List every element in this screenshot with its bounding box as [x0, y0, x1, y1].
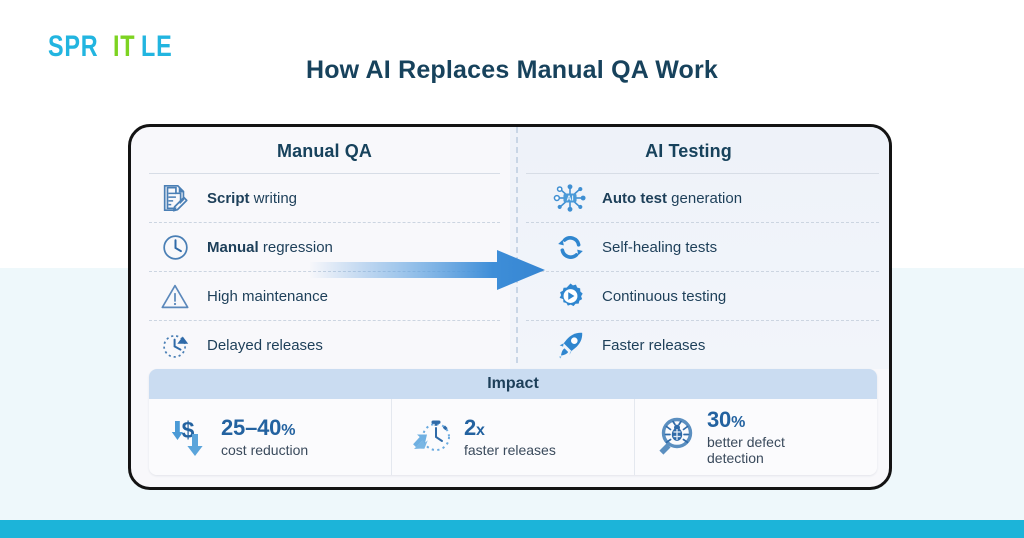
impact-metric-number: 25–40: [221, 415, 281, 440]
impact-metric-number: 30: [707, 407, 731, 432]
impact-panel: Impact $ 25–40% cost reduction: [149, 369, 877, 475]
comparison-columns: Manual QA Script writing: [131, 127, 889, 369]
impact-metric-defect-detection: 30% better defect detection: [635, 399, 877, 475]
list-item-label-rest: writing: [250, 190, 298, 207]
impact-metric-text: 2x faster releases: [464, 415, 556, 458]
list-item: Faster releases: [526, 321, 879, 369]
list-item-label-rest: Faster releases: [602, 337, 705, 354]
column-divider: [516, 127, 518, 363]
clock-icon: [155, 230, 195, 264]
page-title: How AI Replaces Manual QA Work: [0, 56, 1024, 85]
list-item-label-rest: Delayed releases: [207, 337, 323, 354]
impact-metric-unit: %: [731, 414, 745, 431]
list-item-label: Auto test generation: [602, 190, 742, 207]
impact-metric-caption: cost reduction: [221, 442, 308, 459]
impact-metric-text: 25–40% cost reduction: [221, 415, 308, 458]
list-item-label: Self-healing tests: [602, 239, 717, 256]
list-item: Continuous testing: [526, 272, 879, 321]
impact-metric-value: 30%: [707, 407, 745, 432]
self-healing-refresh-icon: [550, 230, 590, 264]
list-item-label-rest: generation: [667, 190, 742, 207]
stopwatch-arrow-icon: [406, 411, 458, 463]
impact-metric-number: 2: [464, 415, 476, 440]
right-arrow-icon: [309, 249, 545, 291]
list-item: AI Auto test generation: [526, 174, 879, 223]
ai-testing-column: AI Testing: [510, 127, 889, 369]
impact-heading: Impact: [149, 369, 877, 399]
list-item: Self-healing tests: [526, 223, 879, 272]
manual-qa-column: Manual QA Script writing: [131, 127, 510, 369]
gear-play-icon: [550, 279, 590, 313]
list-item-label: Delayed releases: [207, 337, 323, 354]
document-pencil-icon: [155, 181, 195, 215]
list-item-label-rest: Self-healing tests: [602, 239, 717, 256]
list-item-label: Script writing: [207, 190, 297, 207]
impact-metric-unit: %: [281, 422, 295, 439]
svg-text:AI: AI: [566, 194, 573, 202]
clock-delay-icon: [155, 328, 195, 362]
ai-network-icon: AI: [550, 181, 590, 215]
list-item-label-strong: Auto test: [602, 190, 667, 207]
list-item-label: Continuous testing: [602, 288, 726, 305]
impact-metric-value: 25–40%: [221, 415, 295, 440]
impact-metrics-row: $ 25–40% cost reduction: [149, 399, 877, 475]
impact-metric-caption: faster releases: [464, 442, 556, 459]
impact-metric-text: 30% better defect detection: [707, 407, 827, 467]
dollar-down-arrow-icon: $: [163, 411, 215, 463]
manual-qa-heading: Manual QA: [249, 127, 496, 173]
impact-metric-cost-reduction: $ 25–40% cost reduction: [149, 399, 392, 475]
list-item-label-strong: Manual: [207, 239, 259, 256]
background-bottom-bar: [0, 520, 1024, 538]
rocket-icon: [550, 328, 590, 362]
ai-testing-heading: AI Testing: [538, 127, 875, 173]
list-item-label-strong: Script: [207, 190, 250, 207]
list-item: Delayed releases: [149, 321, 500, 369]
impact-metric-unit: x: [476, 422, 485, 439]
impact-metric-caption: better defect detection: [707, 434, 827, 467]
impact-metric-value: 2x: [464, 415, 485, 440]
impact-metric-faster-releases: 2x faster releases: [392, 399, 635, 475]
magnifier-bug-icon: [649, 411, 701, 463]
warning-triangle-icon: [155, 279, 195, 313]
list-item: Script writing: [149, 174, 500, 223]
list-item-label-rest: Continuous testing: [602, 288, 726, 305]
list-item-label: Faster releases: [602, 337, 705, 354]
comparison-card: Manual QA Script writing: [128, 124, 892, 490]
